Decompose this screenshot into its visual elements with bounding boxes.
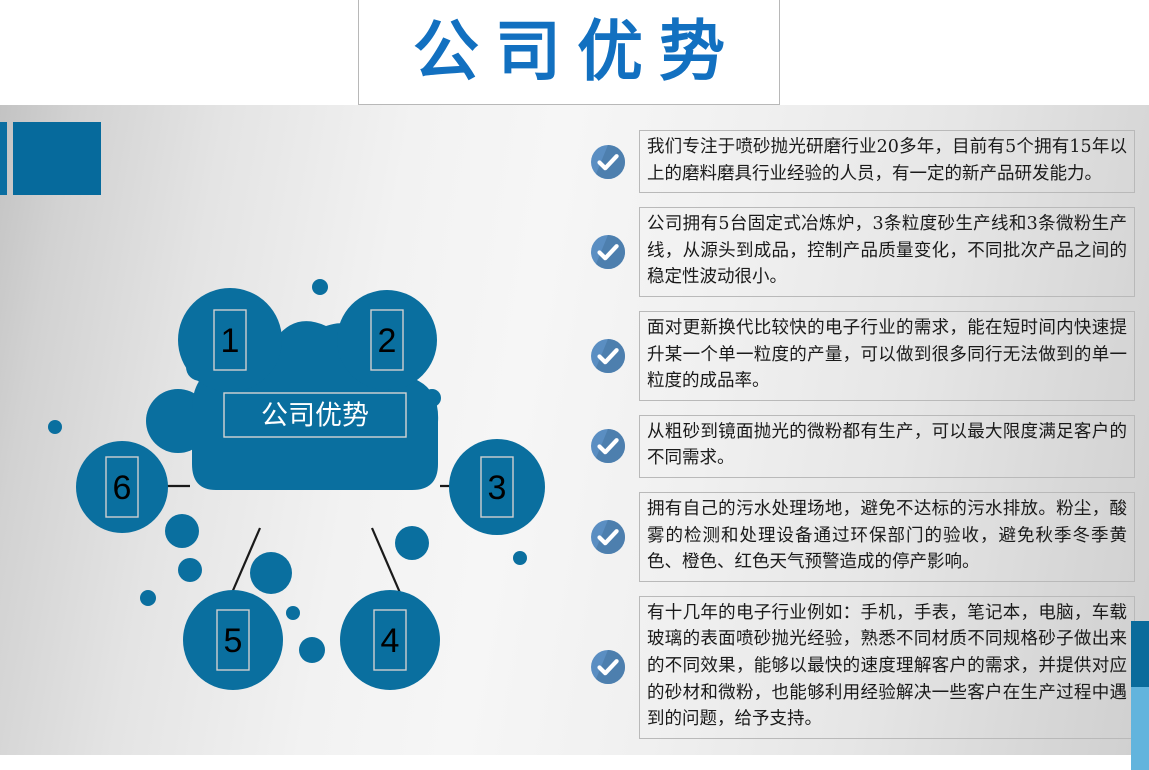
check-circle-icon (590, 649, 626, 685)
check-circle-icon (590, 338, 626, 374)
check-circle-icon (590, 144, 626, 180)
decor-dot (178, 558, 202, 582)
advantage-text: 公司拥有5台固定式冶炼炉，3条粒度砂生产线和3条微粉生产线，从源头到成品，控制产… (647, 211, 1127, 291)
decor-dot (299, 637, 325, 663)
decor-dot (286, 606, 300, 620)
decor-right-light-bar (1131, 687, 1149, 770)
network-diagram: 公司优势 1 2 3 (20, 250, 590, 720)
decor-dot (165, 514, 199, 548)
page-title: 公司优势 (397, 19, 741, 85)
advantage-text-box: 从粗砂到镜面抛光的微粉都有生产，可以最大限度满足客户的不同需求。 (639, 415, 1135, 478)
decor-right-dark-bar (1131, 621, 1149, 687)
advantages-list: 我们专注于喷砂抛光研磨行业20多年，目前有5个拥有15年以上的磨料磨具行业经验的… (590, 130, 1135, 753)
check-circle-icon (590, 519, 626, 555)
list-item: 公司拥有5台固定式冶炼炉，3条粒度砂生产线和3条微粉生产线，从源头到成品，控制产… (590, 207, 1135, 297)
node-5-label: 5 (224, 622, 243, 660)
node-circle-4[interactable]: 4 (340, 590, 440, 690)
decor-dot (395, 526, 429, 560)
center-cloud-label: 公司优势 (261, 401, 369, 432)
advantage-text-box: 我们专注于喷砂抛光研磨行业20多年，目前有5个拥有15年以上的磨料磨具行业经验的… (639, 130, 1135, 193)
advantage-text-box: 公司拥有5台固定式冶炼炉，3条粒度砂生产线和3条微粉生产线，从源头到成品，控制产… (639, 207, 1135, 297)
node-circle-2[interactable]: 2 (337, 290, 437, 390)
node-4-label: 4 (381, 622, 400, 660)
node-circle-1[interactable]: 1 (178, 288, 282, 392)
decor-dot (48, 420, 62, 434)
slide-root: 公司优势 (0, 0, 1149, 770)
node-circle-3[interactable]: 3 (449, 439, 545, 535)
advantage-text-box: 有十几年的电子行业例如：手机，手表，笔记本，电脑，车载玻璃的表面喷砂抛光经验，熟… (639, 596, 1135, 739)
list-item: 面对更新换代比较快的电子行业的需求，能在短时间内快速提升某一个单一粒度的产量，可… (590, 311, 1135, 401)
decor-left-block (13, 122, 101, 195)
advantage-text: 我们专注于喷砂抛光研磨行业20多年，目前有5个拥有15年以上的磨料磨具行业经验的… (647, 134, 1127, 187)
decor-dot (140, 590, 156, 606)
decor-dot (312, 279, 328, 295)
advantage-text: 面对更新换代比较快的电子行业的需求，能在短时间内快速提升某一个单一粒度的产量，可… (647, 315, 1127, 395)
advantage-text-box: 拥有自己的污水处理场地，避免不达标的污水排放。粉尘，酸雾的检测和处理设备通过环保… (639, 492, 1135, 582)
advantage-text: 拥有自己的污水处理场地，避免不达标的污水排放。粉尘，酸雾的检测和处理设备通过环保… (647, 496, 1127, 576)
node-6-label: 6 (113, 469, 132, 507)
decor-left-sliver (0, 122, 7, 195)
list-item: 有十几年的电子行业例如：手机，手表，笔记本，电脑，车载玻璃的表面喷砂抛光经验，熟… (590, 596, 1135, 739)
node-1-label: 1 (221, 322, 240, 360)
node-2-label: 2 (378, 322, 397, 360)
node-3-label: 3 (488, 469, 507, 507)
node-circle-5[interactable]: 5 (183, 590, 283, 690)
list-item: 我们专注于喷砂抛光研磨行业20多年，目前有5个拥有15年以上的磨料磨具行业经验的… (590, 130, 1135, 193)
list-item: 拥有自己的污水处理场地，避免不达标的污水排放。粉尘，酸雾的检测和处理设备通过环保… (590, 492, 1135, 582)
advantage-text-box: 面对更新换代比较快的电子行业的需求，能在短时间内快速提升某一个单一粒度的产量，可… (639, 311, 1135, 401)
decor-dot (250, 552, 292, 594)
advantage-text: 有十几年的电子行业例如：手机，手表，笔记本，电脑，车载玻璃的表面喷砂抛光经验，熟… (647, 600, 1127, 733)
decor-dot (513, 551, 527, 565)
check-circle-icon (590, 234, 626, 270)
list-item: 从粗砂到镜面抛光的微粉都有生产，可以最大限度满足客户的不同需求。 (590, 415, 1135, 478)
title-plaque: 公司优势 (358, 0, 780, 105)
check-circle-icon (590, 428, 626, 464)
advantage-text: 从粗砂到镜面抛光的微粉都有生产，可以最大限度满足客户的不同需求。 (647, 419, 1127, 472)
node-circle-6[interactable]: 6 (76, 441, 168, 533)
